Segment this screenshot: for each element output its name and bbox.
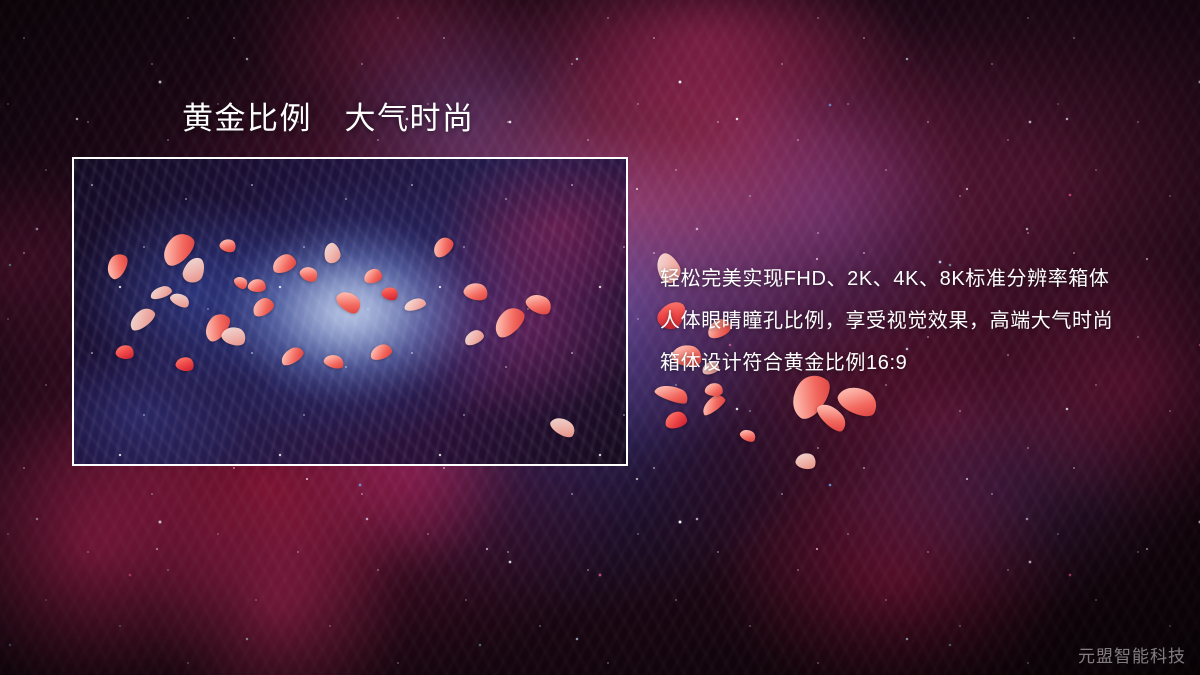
watermark-text: 元盟智能科技 [1078, 642, 1186, 667]
body-text-line: 箱体设计符合黄金比例16:9 [660, 342, 1180, 384]
preview-image [74, 159, 626, 464]
body-text-line: 人体眼睛瞳孔比例，享受视觉效果，高端大气时尚 [660, 300, 1180, 342]
presentation-slide: 黄金比例 大气时尚 [0, 0, 1200, 675]
body-text-line: 轻松完美实现FHD、2K、4K、8K标准分辨率箱体 [660, 258, 1180, 300]
body-text-block: 轻松完美实现FHD、2K、4K、8K标准分辨率箱体 人体眼睛瞳孔比例，享受视觉效… [660, 258, 1180, 384]
page-title: 黄金比例 大气时尚 [182, 100, 475, 137]
preview-image-frame [72, 157, 628, 466]
preview-starfield [74, 159, 626, 464]
